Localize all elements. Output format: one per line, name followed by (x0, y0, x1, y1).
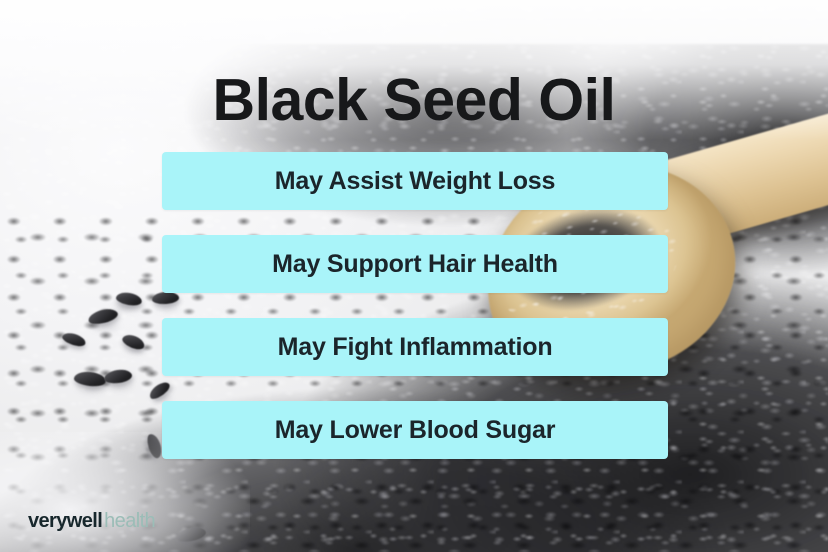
benefit-label: May Assist Weight Loss (275, 167, 555, 196)
benefit-bar-inflammation: May Fight Inflammation (162, 318, 668, 376)
benefit-list: May Assist Weight Loss May Support Hair … (162, 152, 668, 459)
brand-name-primary: verywell (28, 510, 102, 533)
page-title: Black Seed Oil (0, 70, 828, 132)
benefit-label: May Support Hair Health (272, 250, 558, 279)
verywell-health-logo: verywell health (28, 510, 155, 533)
benefit-bar-blood-sugar: May Lower Blood Sugar (162, 401, 668, 459)
benefit-bar-hair-health: May Support Hair Health (162, 235, 668, 293)
content-layer: Black Seed Oil May Assist Weight Loss Ma… (0, 0, 828, 552)
benefit-label: May Fight Inflammation (278, 333, 553, 362)
benefit-bar-weight-loss: May Assist Weight Loss (162, 152, 668, 210)
infographic-card: Black Seed Oil May Assist Weight Loss Ma… (0, 0, 828, 552)
brand-name-secondary: health (104, 510, 155, 533)
benefit-label: May Lower Blood Sugar (275, 416, 556, 445)
